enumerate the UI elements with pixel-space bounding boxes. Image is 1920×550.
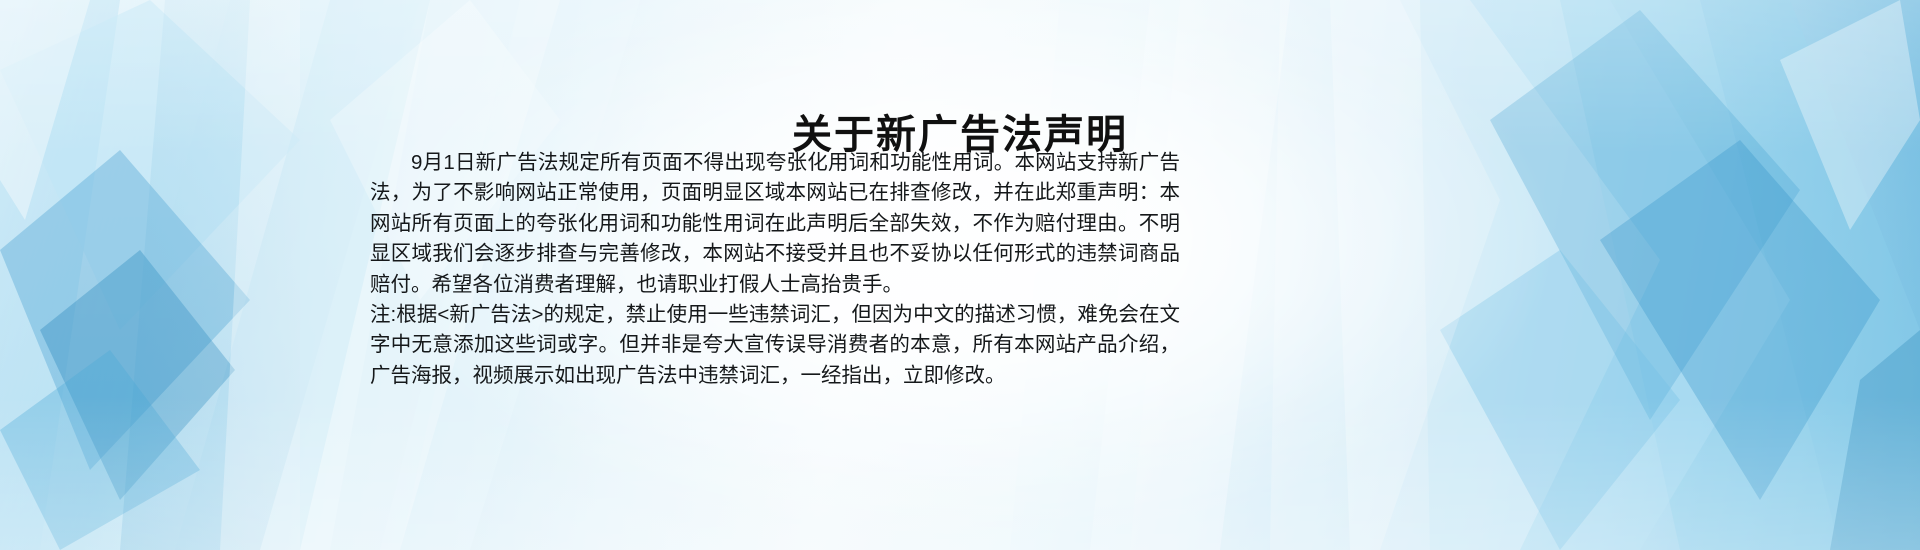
advertising-law-statement-banner: 关于新广告法声明 9月1日新广告法规定所有页面不得出现夸张化用词和功能性用词。本… xyxy=(0,0,1920,550)
statement-body: 9月1日新广告法规定所有页面不得出现夸张化用词和功能性用词。本网站支持新广告法，… xyxy=(370,148,1180,391)
banner-content: 关于新广告法声明 9月1日新广告法规定所有页面不得出现夸张化用词和功能性用词。本… xyxy=(0,0,1920,550)
statement-paragraph-main: 9月1日新广告法规定所有页面不得出现夸张化用词和功能性用词。本网站支持新广告法，… xyxy=(370,148,1180,300)
statement-paragraph-note: 注:根据<新广告法>的规定，禁止使用一些违禁词汇，但因为中文的描述习惯，难免会在… xyxy=(370,300,1180,391)
